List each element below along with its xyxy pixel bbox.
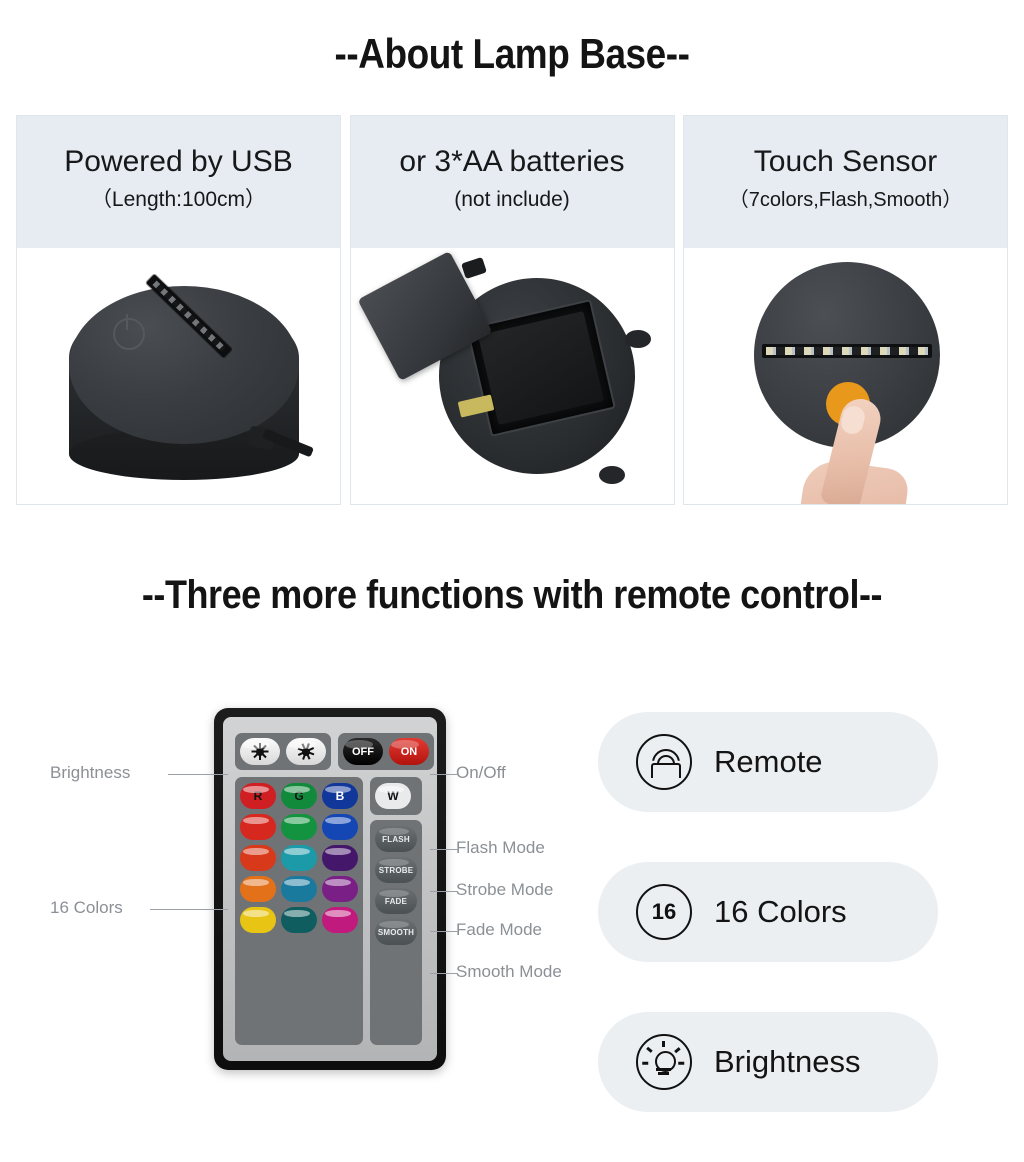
bulb-ray xyxy=(642,1062,648,1065)
mode-button-pad: FLASH STROBE FADE SMOOTH xyxy=(370,820,422,1045)
feature-pill-list: Remote 16 16 Colors Brightness xyxy=(598,712,938,1162)
battery-door-tab xyxy=(461,257,487,279)
card-header: Touch Sensor （7colors,Flash,Smooth） xyxy=(684,116,1007,248)
strobe-mode-button[interactable]: STROBE xyxy=(375,857,417,883)
color-button-green[interactable]: G xyxy=(281,783,317,809)
lamp-base-battery-photo xyxy=(351,248,674,504)
color-button-red[interactable]: R xyxy=(240,783,276,809)
color-button[interactable] xyxy=(281,907,317,933)
rubber-foot xyxy=(599,466,625,484)
bulb-icon xyxy=(636,1034,692,1090)
color-button[interactable] xyxy=(322,814,358,840)
color-button[interactable] xyxy=(322,845,358,871)
lamp-base-usb-photo xyxy=(17,248,340,504)
remote-top-row: OFF ON xyxy=(235,733,425,770)
remote-main-pads: R G B xyxy=(235,777,425,1045)
bulb-ray xyxy=(662,1041,665,1047)
sun-dim-icon xyxy=(297,743,315,761)
leader-line-16-colors xyxy=(150,909,228,910)
feature-pill-brightness[interactable]: Brightness xyxy=(598,1012,938,1112)
brightness-up-button[interactable] xyxy=(240,738,280,765)
feature-pill-label: 16 Colors xyxy=(714,894,847,930)
power-on-button[interactable]: ON xyxy=(389,738,429,765)
color-button[interactable] xyxy=(281,876,317,902)
leader-line-fade-mode xyxy=(430,931,458,932)
card-aa-batteries: or 3*AA batteries (not include) xyxy=(350,115,675,505)
leader-line-strobe-mode xyxy=(430,891,458,892)
color-button[interactable] xyxy=(240,876,276,902)
callout-fade-mode: Fade Mode xyxy=(456,920,542,940)
color-button[interactable] xyxy=(281,845,317,871)
card-powered-by-usb: Powered by USB （Length:100cm） xyxy=(16,115,341,505)
callout-flash-mode: Flash Mode xyxy=(456,838,545,858)
color-button-blue[interactable]: B xyxy=(322,783,358,809)
card-title: Powered by USB xyxy=(64,143,292,181)
color-button[interactable] xyxy=(240,907,276,933)
brightness-down-button[interactable] xyxy=(286,738,326,765)
remote-right-column: W FLASH STROBE FADE SMOOTH xyxy=(370,777,422,1045)
remote-control[interactable]: OFF ON R G B xyxy=(214,708,446,1070)
bulb-ray xyxy=(646,1047,652,1053)
brightness-button-pad xyxy=(235,733,331,770)
card-header: Powered by USB （Length:100cm） xyxy=(17,116,340,248)
section-title-about-lamp-base: --About Lamp Base-- xyxy=(61,28,962,80)
bulb-base-line xyxy=(656,1068,671,1071)
smooth-mode-button[interactable]: SMOOTH xyxy=(375,919,417,945)
white-button-pad: W xyxy=(370,777,422,815)
card-subtitle: (not include) xyxy=(454,185,570,215)
rubber-foot xyxy=(625,330,651,348)
infographic-page: --About Lamp Base-- Powered by USB （Leng… xyxy=(0,0,1024,1141)
bulb-base-line xyxy=(658,1072,669,1075)
power-off-button[interactable]: OFF xyxy=(343,738,383,765)
circle-16-icon: 16 xyxy=(636,884,692,940)
flash-mode-button[interactable]: FLASH xyxy=(375,826,417,852)
leader-line-flash-mode xyxy=(430,849,458,850)
color-button-white[interactable]: W xyxy=(375,783,411,809)
leader-line-smooth-mode xyxy=(430,973,458,974)
card-subtitle: （Length:100cm） xyxy=(91,185,266,215)
leader-line-brightness xyxy=(168,774,228,775)
card-subtitle: （7colors,Flash,Smooth） xyxy=(729,185,962,215)
color-button[interactable] xyxy=(322,876,358,902)
remote-signal-icon xyxy=(636,734,692,790)
bulb-ray xyxy=(674,1047,680,1053)
callout-brightness: Brightness xyxy=(50,763,130,783)
feature-card-row: Powered by USB （Length:100cm） or 3*AA ba… xyxy=(16,115,1008,505)
feature-pill-label: Brightness xyxy=(714,1044,860,1080)
card-title: Touch Sensor xyxy=(754,143,937,181)
feature-pill-label: Remote xyxy=(714,744,823,780)
fade-mode-button[interactable]: FADE xyxy=(375,888,417,914)
color-button[interactable] xyxy=(322,907,358,933)
lamp-base-touch-photo xyxy=(684,248,1007,504)
callout-smooth-mode: Smooth Mode xyxy=(456,962,562,982)
card-title: or 3*AA batteries xyxy=(399,143,624,181)
card-header: or 3*AA batteries (not include) xyxy=(351,116,674,248)
card-touch-sensor: Touch Sensor （7colors,Flash,Smooth） xyxy=(683,115,1008,505)
power-touch-icon xyxy=(113,318,145,350)
section-title-remote-functions: --Three more functions with remote contr… xyxy=(51,570,973,620)
callout-strobe-mode: Strobe Mode xyxy=(456,880,553,900)
usb-base-illustration xyxy=(17,248,340,504)
callout-on-off: On/Off xyxy=(456,763,506,783)
color-button[interactable] xyxy=(240,814,276,840)
callout-16-colors: 16 Colors xyxy=(50,898,123,918)
color-button[interactable] xyxy=(240,845,276,871)
color-button-grid: R G B xyxy=(235,777,363,1045)
power-button-pad: OFF ON xyxy=(338,733,434,770)
feature-pill-remote[interactable]: Remote xyxy=(598,712,938,812)
sun-bright-icon xyxy=(251,743,269,761)
signal-wave-icon xyxy=(657,755,675,773)
color-button[interactable] xyxy=(281,814,317,840)
led-strip xyxy=(762,344,932,358)
feature-pill-16-colors[interactable]: 16 16 Colors xyxy=(598,862,938,962)
leader-line-on-off xyxy=(430,774,458,775)
remote-faceplate: OFF ON R G B xyxy=(223,717,437,1061)
bulb-ray xyxy=(678,1062,684,1065)
